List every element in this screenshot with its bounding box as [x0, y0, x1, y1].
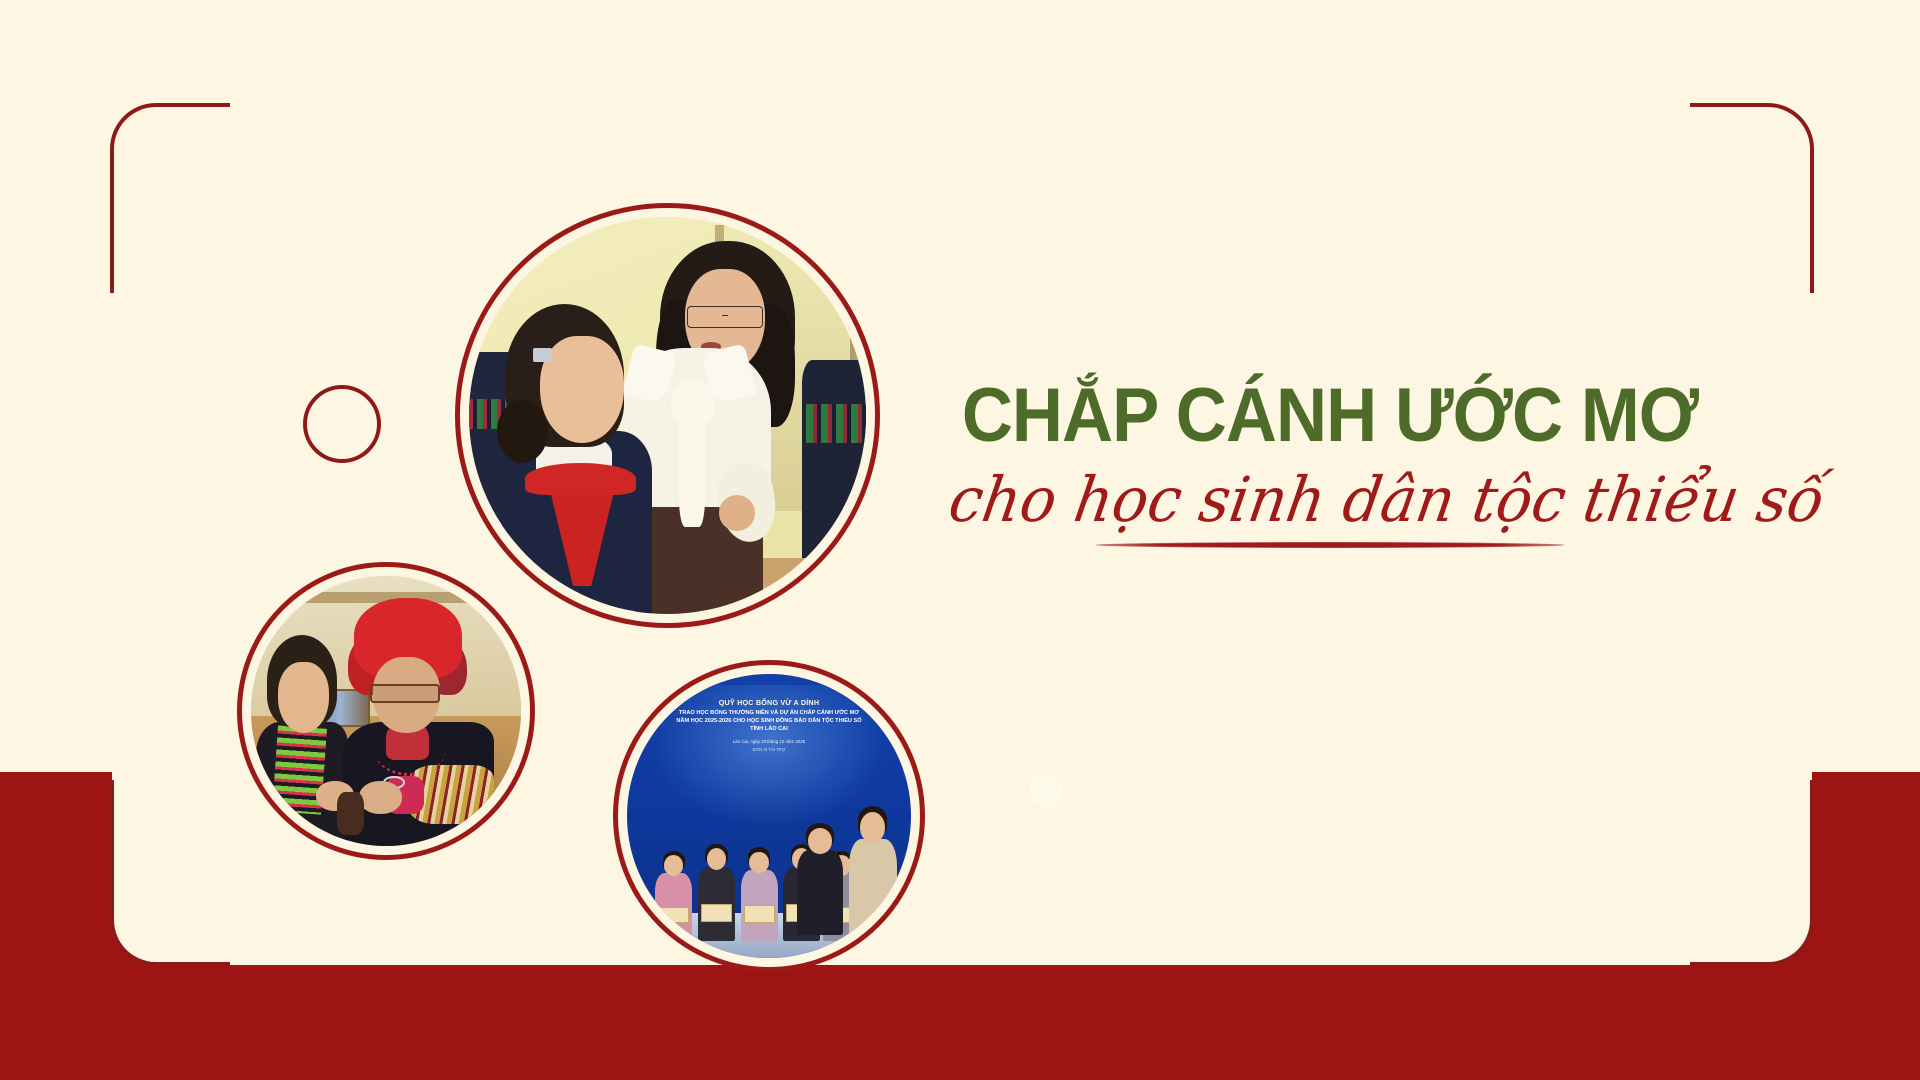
- ceremony-banner: TỔ CHỨC QUỸ HỌC BỔNG VỪ A DÍNH TRAO HỌC …: [644, 691, 894, 805]
- banner-line-3: NĂM HỌC 2025-2026 CHO HỌC SINH ĐỒNG BÀO …: [644, 718, 894, 724]
- page-subtitle: cho học sinh dân tộc thiểu số: [945, 467, 1715, 532]
- headline-block: CHẮP CÁNH ƯỚC MƠ cho học sinh dân tộc th…: [930, 380, 1730, 548]
- decorative-ring: [303, 385, 381, 463]
- photo-teacher-and-pupil-image: [469, 217, 866, 614]
- close-circle-icon[interactable]: [1030, 775, 1062, 807]
- photo-award-ceremony-image: TỔ CHỨC QUỸ HỌC BỔNG VỪ A DÍNH TRAO HỌC …: [627, 674, 911, 958]
- ceremony-person: [741, 870, 778, 941]
- banner-sponsor-line: ĐƠN VỊ TÀI TRỢ: [644, 747, 894, 752]
- banner-line-2: TRAO HỌC BỔNG THƯỜNG NIÊN VÀ DỰ ÁN CHẮP …: [644, 710, 894, 716]
- ceremony-person: [655, 873, 692, 941]
- banner-organizer-tag: TỔ CHỨC: [644, 691, 894, 696]
- page-title: CHẮP CÁNH ƯỚC MƠ: [958, 380, 1702, 453]
- photo-teacher-and-pupil[interactable]: [455, 203, 880, 628]
- photo-elder-and-girl-image: [251, 576, 521, 846]
- banner-line-1: QUỸ HỌC BỔNG VỪ A DÍNH: [644, 698, 894, 707]
- photo-award-ceremony[interactable]: TỔ CHỨC QUỸ HỌC BỔNG VỪ A DÍNH TRAO HỌC …: [613, 660, 925, 972]
- subtitle-underline-swash: [1095, 542, 1565, 548]
- ceremony-person: [698, 867, 735, 941]
- banner-date-line: Lào Cai, ngày 23 tháng 10 năm 2025: [644, 739, 894, 744]
- photo-elder-and-girl[interactable]: [237, 562, 535, 860]
- ceremony-person: [797, 850, 842, 935]
- poster-canvas: TỔ CHỨC QUỸ HỌC BỔNG VỪ A DÍNH TRAO HỌC …: [0, 0, 1920, 1080]
- ceremony-person: [849, 839, 897, 941]
- banner-line-4: TỈNH LÀO CAI: [644, 726, 894, 732]
